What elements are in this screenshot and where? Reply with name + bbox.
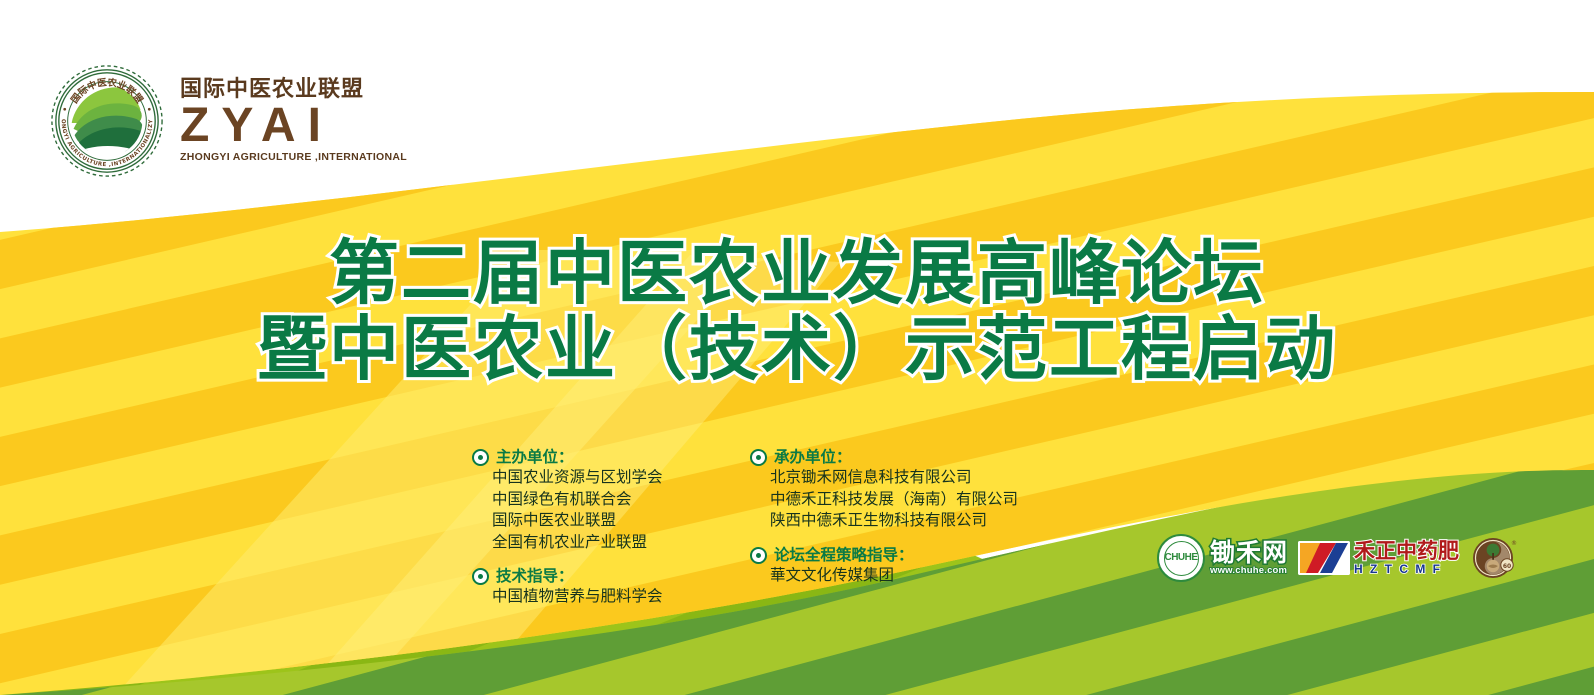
bullet-icon [750, 449, 767, 466]
round-emblem-icon: 60 ® [1471, 535, 1517, 581]
credit-heading-row: 技术指导： [472, 567, 734, 586]
credit-group-technical-guidance: 技术指导： 中国植物营养与肥料学会 [472, 567, 734, 608]
hezhong-mark-icon [1298, 541, 1350, 575]
credit-heading-row: 承办单位： [750, 448, 1050, 467]
round-emblem-badge-text: 60 [1503, 563, 1511, 570]
logo-acronym: ZYAI [180, 103, 333, 149]
credit-item: 陕西中德禾正生物科技有限公司 [770, 510, 1050, 531]
credit-item: 全国有机农业产业联盟 [492, 532, 734, 553]
bullet-icon [472, 449, 489, 466]
logo-chinese-name: 国际中医农业联盟 [180, 79, 364, 101]
credit-item: 国际中医农业联盟 [492, 510, 734, 531]
credit-item: 華文文化传媒集团 [770, 565, 1050, 586]
chuhe-chinese-name: 锄禾网 [1210, 540, 1288, 565]
sponsor-logo-chuhe: CHUHE 锄禾网 www.chuhe.com [1157, 534, 1288, 582]
sponsor-logo-round-emblem: 60 ® [1471, 535, 1517, 581]
sponsor-logo-strip: CHUHE 锄禾网 www.chuhe.com 禾正中药肥 H Z T C M [1157, 528, 1517, 588]
bullet-icon [472, 568, 489, 585]
credit-heading-text: 论坛全程策略指导： [774, 546, 914, 565]
registered-trademark-icon: ® [1511, 540, 1517, 547]
bullet-icon [750, 547, 767, 564]
zyai-seal-icon: 国际中医农业联盟 ZHONGYI AGRICULTURE ,INTERNATIO… [48, 62, 166, 180]
sponsor-logo-hezhong: 禾正中药肥 H Z T C M F [1298, 541, 1459, 575]
credit-group-organizers: 主办单位： 中国农业资源与区划学会 中国绿色有机联合会 国际中医农业联盟 全国有… [472, 448, 734, 553]
credit-heading-row: 主办单位： [472, 448, 734, 467]
hezhong-wordmark: 禾正中药肥 H Z T C M F [1354, 541, 1459, 575]
logo-wordmark: 国际中医农业联盟 ZYAI ZHONGYI AGRICULTURE ,INTER… [180, 79, 407, 162]
hezhong-chinese-name: 禾正中药肥 [1354, 541, 1459, 562]
credit-group-strategy-guidance: 论坛全程策略指导： 華文文化传媒集团 [750, 546, 1050, 587]
credits-column-right: 承办单位： 北京锄禾网信息科技有限公司 中德禾正科技发展（海南）有限公司 陕西中… [750, 448, 1050, 608]
credit-group-co-organizers: 承办单位： 北京锄禾网信息科技有限公司 中德禾正科技发展（海南）有限公司 陕西中… [750, 448, 1050, 532]
hezhong-english-name: H Z T C M F [1354, 563, 1459, 575]
credit-item: 中国植物营养与肥料学会 [492, 586, 734, 607]
credit-heading-text: 技术指导： [496, 567, 574, 586]
chuhe-wordmark: 锄禾网 www.chuhe.com [1210, 540, 1288, 576]
logo-english-subtitle: ZHONGYI AGRICULTURE ,INTERNATIONAL [180, 152, 407, 163]
poster-canvas: 国际中医农业联盟 ZHONGYI AGRICULTURE ,INTERNATIO… [0, 0, 1594, 695]
chuhe-seal-top-text: CHUHE [1164, 553, 1197, 563]
credits-column-left: 主办单位： 中国农业资源与区划学会 中国绿色有机联合会 国际中医农业联盟 全国有… [472, 448, 734, 608]
chuhe-seal-icon: CHUHE [1157, 534, 1205, 582]
credit-heading-text: 主办单位： [496, 448, 574, 467]
credit-item: 北京锄禾网信息科技有限公司 [770, 467, 1050, 488]
chuhe-url-text: www.chuhe.com [1210, 566, 1288, 576]
credit-item: 中国绿色有机联合会 [492, 489, 734, 510]
credits-block: 主办单位： 中国农业资源与区划学会 中国绿色有机联合会 国际中医农业联盟 全国有… [472, 448, 1050, 608]
credit-item: 中国农业资源与区划学会 [492, 467, 734, 488]
credit-heading-row: 论坛全程策略指导： [750, 546, 1050, 565]
organization-logo: 国际中医农业联盟 ZHONGYI AGRICULTURE ,INTERNATIO… [48, 62, 407, 180]
credit-heading-text: 承办单位： [774, 448, 852, 467]
credit-item: 中德禾正科技发展（海南）有限公司 [770, 489, 1050, 510]
